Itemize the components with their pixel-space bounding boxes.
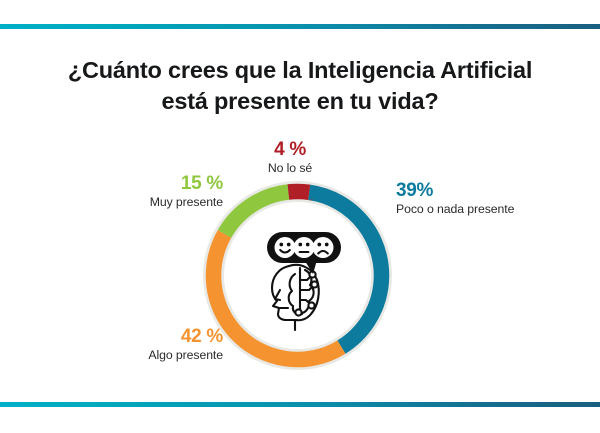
callout-muy-presente-label: Muy presente [68, 195, 223, 210]
neutral-face [294, 237, 315, 258]
callout-muy-presente: 15 % Muy presente [68, 174, 223, 210]
page-title: ¿Cuánto crees que la Inteligencia Artifi… [50, 55, 550, 117]
circuit-node [311, 281, 317, 287]
callout-no-lo-se-label: No lo sé [215, 161, 365, 176]
callout-muy-presente-value: 15 % [68, 174, 223, 195]
bottom-accent-rule [0, 402, 600, 407]
callout-poco-o-nada-presente: 39% Poco o nada presente [396, 181, 514, 217]
callout-no-lo-se: 4 % No lo sé [215, 140, 365, 176]
callout-poco-o-nada-presente-value: 39% [396, 181, 514, 202]
page-title-line-1: ¿Cuánto crees que la Inteligencia Artifi… [50, 55, 550, 86]
page-title-line-2: está presente en tu vida? [50, 86, 550, 117]
callout-algo-presente-value: 42 % [48, 327, 223, 348]
circuit-node [308, 302, 314, 308]
top-accent-rule [0, 24, 600, 29]
happy-face [275, 237, 296, 258]
infographic-canvas: ¿Cuánto crees que la Inteligencia Artifi… [0, 0, 600, 433]
circuit-node [295, 309, 301, 315]
callout-algo-presente-label: Algo presente [48, 348, 223, 363]
callout-algo-presente: 42 % Algo presente [48, 327, 223, 363]
callout-no-lo-se-value: 4 % [215, 140, 365, 161]
sad-face [313, 237, 334, 258]
head-brain-ai-icon [243, 222, 353, 332]
callout-poco-o-nada-presente-label: Poco o nada presente [396, 202, 514, 217]
